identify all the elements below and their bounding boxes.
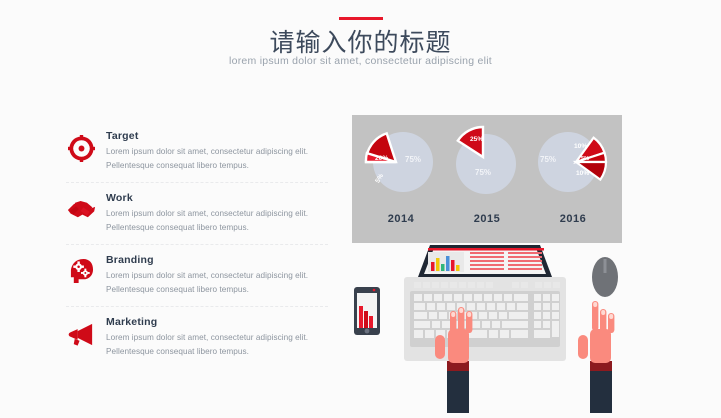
feature-text-marketing: Marketing Lorem ipsum dolor sit amet, co… bbox=[106, 316, 308, 358]
feature-title: Marketing bbox=[106, 316, 308, 328]
feature-desc-line2: Pellentesque consequat libero tempus. bbox=[106, 283, 308, 297]
target-icon bbox=[66, 131, 96, 165]
smartphone bbox=[354, 287, 380, 335]
feature-item-target[interactable]: Target Lorem ipsum dolor sit amet, conse… bbox=[66, 130, 328, 183]
feature-title: Branding bbox=[106, 254, 308, 266]
feature-title: Target bbox=[106, 130, 308, 142]
mouse bbox=[592, 257, 618, 297]
feature-title: Work bbox=[106, 192, 308, 204]
desk-illustration: 20% 5% 75% 2014 25% 75% 2015 bbox=[352, 115, 652, 405]
pie-chart-year-label: 2015 bbox=[448, 213, 526, 225]
handshake-icon bbox=[66, 193, 96, 227]
feature-item-branding[interactable]: Branding Lorem ipsum dolor sit amet, con… bbox=[66, 254, 328, 307]
feature-list: Target Lorem ipsum dolor sit amet, conse… bbox=[66, 130, 328, 377]
feature-item-marketing[interactable]: Marketing Lorem ipsum dolor sit amet, co… bbox=[66, 316, 328, 368]
feature-item-work[interactable]: Work Lorem ipsum dolor sit amet, consect… bbox=[66, 192, 328, 245]
feature-text-work: Work Lorem ipsum dolor sit amet, consect… bbox=[106, 192, 308, 234]
feature-desc-line1: Lorem ipsum dolor sit amet, consectetur … bbox=[106, 207, 308, 221]
desk-surface bbox=[352, 243, 622, 405]
head-gears-icon bbox=[66, 255, 96, 289]
pie-chart-2015: 25% 75% 2015 bbox=[448, 123, 526, 201]
feature-desc-line2: Pellentesque consequat libero tempus. bbox=[106, 345, 308, 359]
chart-panel: 20% 5% 75% 2014 25% 75% 2015 bbox=[352, 115, 622, 243]
feature-desc-line1: Lorem ipsum dolor sit amet, consectetur … bbox=[106, 269, 308, 283]
laptop-screen bbox=[418, 245, 552, 277]
laptop-base bbox=[404, 277, 566, 361]
feature-desc-line1: Lorem ipsum dolor sit amet, consectetur … bbox=[106, 145, 308, 159]
right-hand bbox=[578, 301, 614, 413]
feature-desc-line1: Lorem ipsum dolor sit amet, consectetur … bbox=[106, 331, 308, 345]
page-subtitle: lorem ipsum dolor sit amet, consectetur … bbox=[0, 55, 721, 67]
pie-chart-year-label: 2014 bbox=[362, 213, 440, 225]
pie-chart-year-label: 2016 bbox=[534, 213, 612, 225]
pie-chart-2016: 10% 5% 10% 75% 2016 bbox=[534, 123, 612, 201]
slide-canvas: 请输入你的标题 lorem ipsum dolor sit amet, cons… bbox=[0, 0, 721, 405]
feature-desc-line2: Pellentesque consequat libero tempus. bbox=[106, 221, 308, 235]
feature-desc-line2: Pellentesque consequat libero tempus. bbox=[106, 159, 308, 173]
megaphone-icon bbox=[66, 317, 96, 351]
feature-text-target: Target Lorem ipsum dolor sit amet, conse… bbox=[106, 130, 308, 172]
title-accent-line bbox=[339, 17, 383, 20]
pie-chart-2014: 20% 5% 75% 2014 bbox=[362, 123, 440, 201]
feature-text-branding: Branding Lorem ipsum dolor sit amet, con… bbox=[106, 254, 308, 296]
page-title: 请输入你的标题 bbox=[0, 23, 721, 59]
